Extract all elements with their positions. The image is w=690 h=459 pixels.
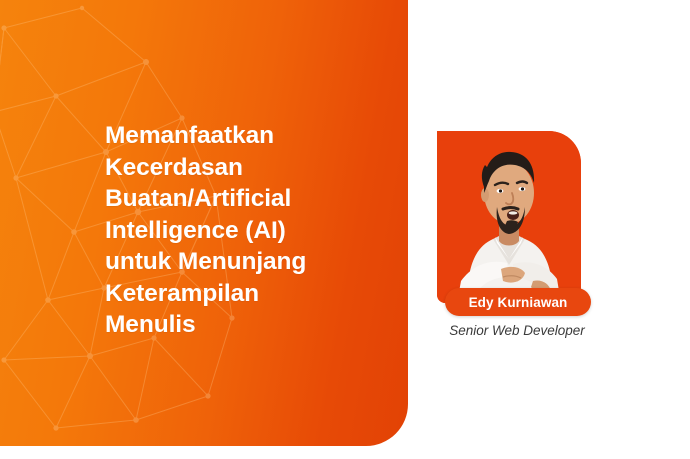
speaker-name: Edy Kurniawan: [469, 295, 568, 310]
presentation-slide: Memanfaatkan Kecerdasan Buatan/Artificia…: [0, 0, 690, 459]
speaker-card: Edy Kurniawan Senior Web Developer: [437, 131, 581, 303]
portrait-illustration: [437, 131, 581, 303]
title-panel: Memanfaatkan Kecerdasan Buatan/Artificia…: [0, 0, 408, 446]
speaker-photo: [437, 131, 581, 303]
speaker-role: Senior Web Developer: [429, 323, 605, 338]
speaker-name-badge: Edy Kurniawan: [445, 288, 591, 316]
page-title: Memanfaatkan Kecerdasan Buatan/Artificia…: [105, 120, 375, 341]
